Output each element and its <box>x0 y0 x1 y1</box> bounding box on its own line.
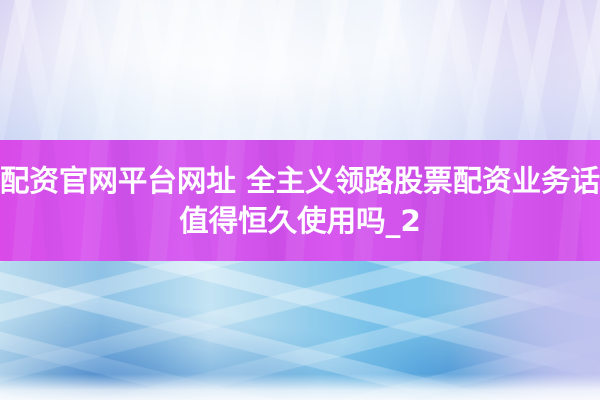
top-chevron-streaks <box>0 0 600 150</box>
blue-bottom-zone <box>0 261 600 400</box>
promo-banner: 爱配资官网平台网址 全主义领路股票配资业务话术 值得恒久使用吗_2 <box>0 0 600 400</box>
bottom-white-haze <box>0 374 600 400</box>
banner-title: 爱配资官网平台网址 全主义领路股票配资业务话术 值得恒久使用吗_2 <box>0 140 600 261</box>
banner-title-line-2: 值得恒久使用吗_2 <box>179 201 421 241</box>
banner-title-line-1: 爱配资官网平台网址 全主义领路股票配资业务话术 <box>0 161 600 201</box>
top-glow-overlay <box>0 0 600 150</box>
